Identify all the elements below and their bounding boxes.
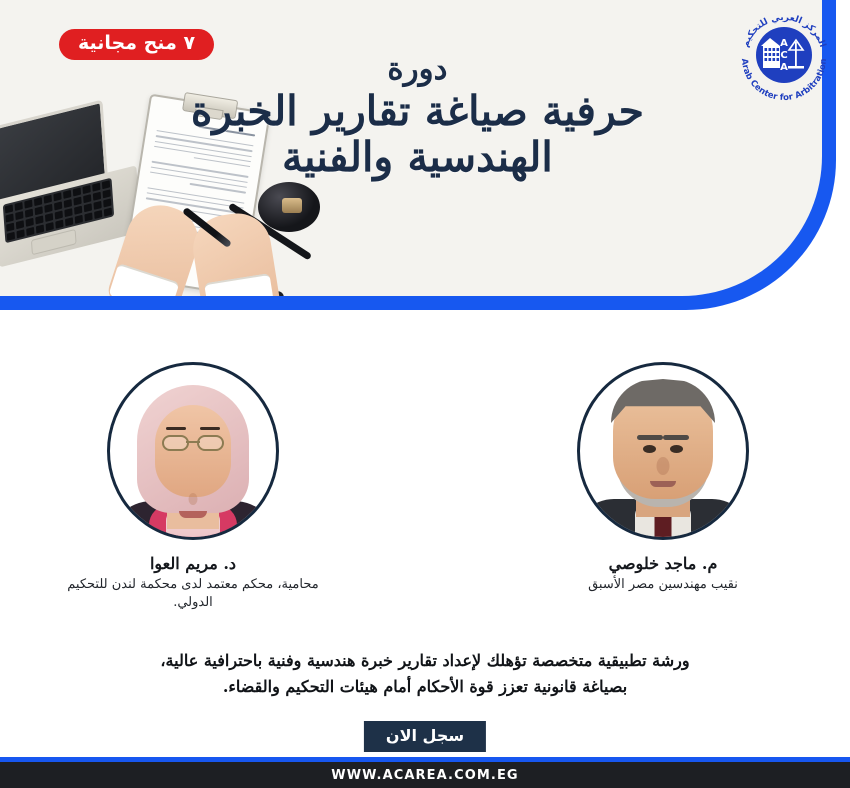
title-line-3: الهندسية والفنية xyxy=(191,135,644,181)
hero-image: ٧ منح مجانية دورة حرفية صياغة تقارير الخ… xyxy=(0,0,822,296)
poster-root: ٧ منح مجانية دورة حرفية صياغة تقارير الخ… xyxy=(0,0,850,788)
description-line-1: ورشة تطبيقية متخصصة تؤهلك لإعداد تقارير … xyxy=(48,648,802,674)
speaker-role: محامية، محكم معتمد لدى محكمة لندن للتحكي… xyxy=(28,576,358,611)
speaker-role: نقيب مهندسين مصر الأسبق xyxy=(498,576,828,594)
speakers-section: د. مريم العوا محامية، محكم معتمد لدى محك… xyxy=(0,362,850,632)
avatar-maryam-elawa xyxy=(107,362,279,540)
speaker-name: د. مريم العوا xyxy=(28,554,358,573)
avatar-maged-kholosy xyxy=(577,362,749,540)
register-now-button[interactable]: سجل الان xyxy=(364,721,486,752)
title-line-1: دورة xyxy=(191,52,644,87)
description-line-2: بصياغة قانونية تعزز قوة الأحكام أمام هيئ… xyxy=(48,674,802,700)
website-url[interactable]: WWW.ACAREA.COM.EG xyxy=(331,768,518,783)
svg-text:A: A xyxy=(780,38,788,49)
hero-frame: ٧ منح مجانية دورة حرفية صياغة تقارير الخ… xyxy=(0,0,836,310)
footer-bar: WWW.ACAREA.COM.EG xyxy=(0,762,850,788)
course-description: ورشة تطبيقية متخصصة تؤهلك لإعداد تقارير … xyxy=(0,648,850,701)
speaker-card: د. مريم العوا محامية، محكم معتمد لدى محك… xyxy=(28,362,358,611)
page-title: دورة حرفية صياغة تقارير الخبرة الهندسية … xyxy=(191,52,644,181)
speaker-card: م. ماجد خلوصي نقيب مهندسين مصر الأسبق xyxy=(498,362,828,594)
gavel-band-icon xyxy=(282,198,302,213)
aca-logo: المركز العربي للتحكيم Arab Center for Ar… xyxy=(732,6,836,104)
svg-text:A: A xyxy=(780,62,788,73)
speaker-name: م. ماجد خلوصي xyxy=(498,554,828,573)
title-line-2: حرفية صياغة تقارير الخبرة xyxy=(191,89,644,135)
svg-text:C: C xyxy=(780,50,787,61)
